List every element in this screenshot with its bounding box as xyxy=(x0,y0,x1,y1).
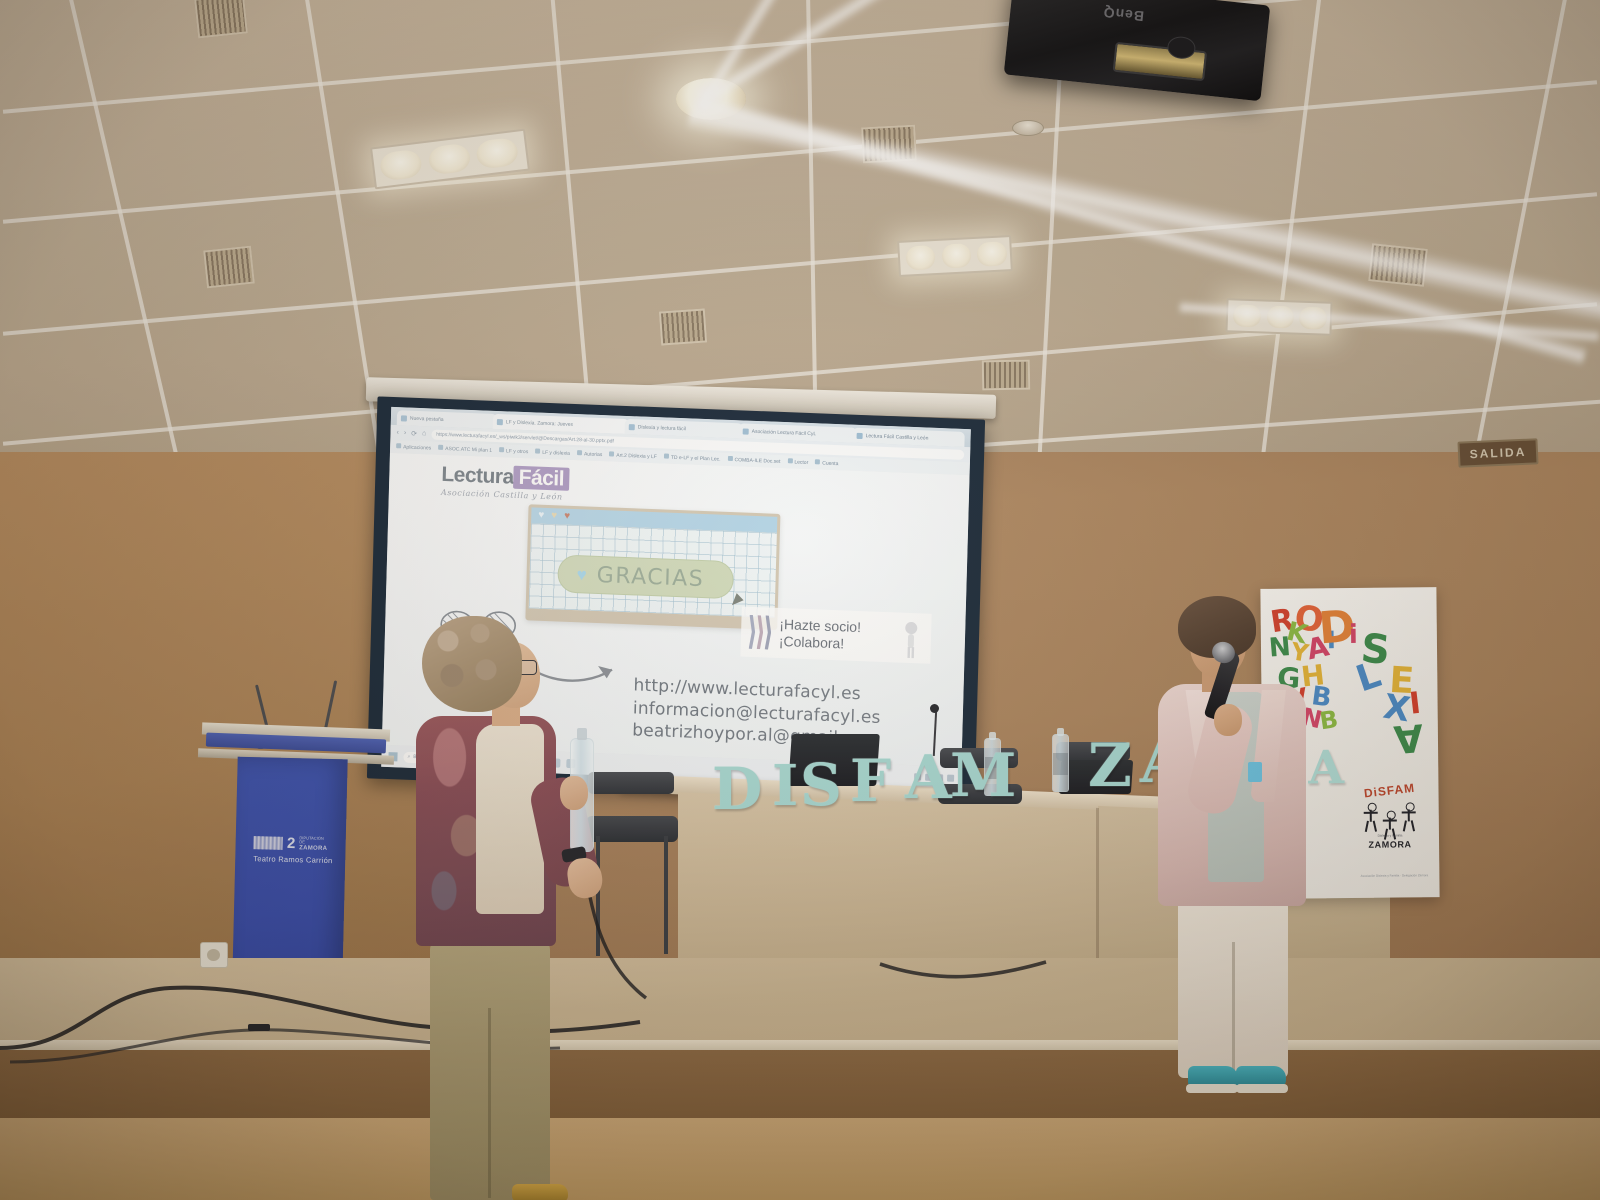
chevron-arrows-icon xyxy=(749,615,774,650)
tab-title: Nueva pestaña xyxy=(410,415,444,422)
tab-title: Asociación Lectura Fácil CyL xyxy=(752,428,817,436)
bookmark-item[interactable]: Autorias xyxy=(577,450,603,458)
tab-favicon-icon xyxy=(857,432,863,438)
hazte-socio-text: ¡Hazte socio! ¡Colabora! xyxy=(779,615,862,653)
desk-microphone-head xyxy=(930,704,939,713)
presenter-left-hand-upper xyxy=(560,776,588,810)
gracias-grid-background: ♥ GRACIAS xyxy=(529,523,777,617)
name-badge xyxy=(1248,762,1262,782)
lectura-facil-logo: LecturaFácil Asociación Castilla y León xyxy=(441,463,570,502)
stage-cables xyxy=(560,830,1120,1030)
bookmark-item[interactable]: LF y dislexia xyxy=(535,448,570,456)
theater-name-label: Teatro Ramos Carrión xyxy=(253,854,329,865)
smoke-detector-icon xyxy=(1012,120,1044,136)
reload-icon[interactable]: ⟳ xyxy=(411,429,417,437)
bookmark-icon xyxy=(577,450,582,455)
table-letter: D xyxy=(712,760,762,818)
heart-icon: ♥ xyxy=(551,511,557,521)
trouser-seam xyxy=(1232,942,1235,1074)
banner-letter: A xyxy=(1392,718,1424,758)
bookmark-item[interactable]: COMBA-ILE Doc.set xyxy=(727,456,780,465)
tab-favicon-icon xyxy=(497,419,503,425)
building-icon xyxy=(253,836,283,850)
bookmark-item[interactable]: LF y otros xyxy=(499,447,528,455)
stick-figures-icon xyxy=(1347,798,1433,833)
bookmark-item[interactable]: Aplicaciones xyxy=(396,443,431,451)
presenter-left xyxy=(392,608,622,1200)
disfam-city: ZAMORA xyxy=(1347,839,1433,850)
recessed-ceiling-light xyxy=(897,235,1013,277)
shoe-sole xyxy=(1186,1084,1238,1093)
hvac-vent xyxy=(659,308,707,345)
shoe-sole xyxy=(1236,1084,1288,1093)
tab-favicon-icon xyxy=(743,428,749,434)
table-letter: Z xyxy=(1088,736,1132,796)
bookmark-icon xyxy=(438,445,443,450)
tab-title: LF y Dislexia. Zamora: Jueves xyxy=(506,419,573,428)
logo-facil-text: Fácil xyxy=(513,466,569,491)
bookmark-icon xyxy=(535,448,540,453)
heart-icon: ♥ xyxy=(538,511,544,521)
bookmark-icon xyxy=(815,459,820,464)
heart-icon: ♥ xyxy=(564,512,570,522)
bookmark-icon xyxy=(499,447,504,452)
bookmark-icon xyxy=(787,458,792,463)
bookmark-icon xyxy=(728,456,733,461)
table-letter: M xyxy=(950,746,1016,806)
banner-footer-text: Asociación Dislexia y Familia · Delegaci… xyxy=(1359,873,1429,878)
conference-room-photo: BenQ SALIDA Nueva pestaña LF y Dislex xyxy=(0,0,1600,1200)
gracias-button-label: GRACIAS xyxy=(596,562,704,591)
table-letter: F xyxy=(850,752,891,810)
table-letter: I xyxy=(772,758,798,814)
tab-favicon-icon xyxy=(629,424,635,430)
table-letter: S xyxy=(800,756,842,814)
institution-line2: ZAMORA xyxy=(299,845,327,852)
trouser-seam xyxy=(488,1008,491,1198)
bookmark-icon xyxy=(396,443,401,448)
institution-line1: DIPUTACIÓN DE xyxy=(299,835,324,845)
forward-icon[interactable]: › xyxy=(404,429,407,436)
bookmark-item[interactable]: Art.2 Dislexia y LF xyxy=(609,451,657,460)
floor xyxy=(0,1118,1600,1200)
hazte-socio-box: ¡Hazte socio! ¡Colabora! xyxy=(740,607,931,664)
institution-name: DIPUTACIÓN DE ZAMORA xyxy=(299,836,330,852)
heart-icon: ♥ xyxy=(576,566,587,583)
disfam-tagline: Dislexia y Familia xyxy=(1347,833,1433,838)
presenter-left-hair xyxy=(422,616,522,712)
bookmark-item[interactable]: Lector xyxy=(787,458,808,466)
bookmark-item[interactable]: Cuenta xyxy=(815,459,838,467)
mascot-figure-icon xyxy=(898,621,923,660)
hvac-vent xyxy=(194,0,248,39)
hazte-socio-line2: ¡Colabora! xyxy=(779,633,861,654)
tab-title: Dislexia y lectura fácil xyxy=(638,424,686,432)
hvac-vent xyxy=(203,246,255,289)
tab-title: Lectura Fácil Castilla y León xyxy=(866,433,929,441)
logo-lectura-text: Lectura xyxy=(441,463,514,489)
exit-sign-label: SALIDA xyxy=(1469,445,1526,461)
presenter-right xyxy=(1152,592,1322,1108)
diputacion-zamora-logo: 2 DIPUTACIÓN DE ZAMORA Teatro Ramos Carr… xyxy=(253,835,330,865)
table-letter: A xyxy=(905,748,952,808)
logo-wordmark: LecturaFácil xyxy=(441,463,569,492)
disfam-logo: DiSFAM Dislexia y Familia ZAMORA xyxy=(1346,783,1433,850)
back-icon[interactable]: ‹ xyxy=(396,429,399,436)
exit-sign: SALIDA xyxy=(1457,438,1538,467)
bookmark-item[interactable]: TD e-LF y el Plan Lec. xyxy=(664,453,721,462)
bookmark-item[interactable]: ASOC.ATC Mi plan 1 xyxy=(438,445,492,454)
logo-number: 2 xyxy=(287,836,296,851)
bookmark-icon xyxy=(609,451,614,456)
tab-favicon-icon xyxy=(401,415,407,421)
presenter-left-shoe xyxy=(512,1184,568,1200)
bookmark-icon xyxy=(664,453,669,458)
presenter-left-hand xyxy=(565,856,604,900)
presenter-right-hand xyxy=(1214,704,1242,736)
banner-letter: i xyxy=(1349,622,1358,648)
home-icon[interactable]: ⌂ xyxy=(422,430,426,437)
gracias-button[interactable]: ♥ GRACIAS xyxy=(557,554,734,599)
water-bottle xyxy=(1052,734,1069,792)
